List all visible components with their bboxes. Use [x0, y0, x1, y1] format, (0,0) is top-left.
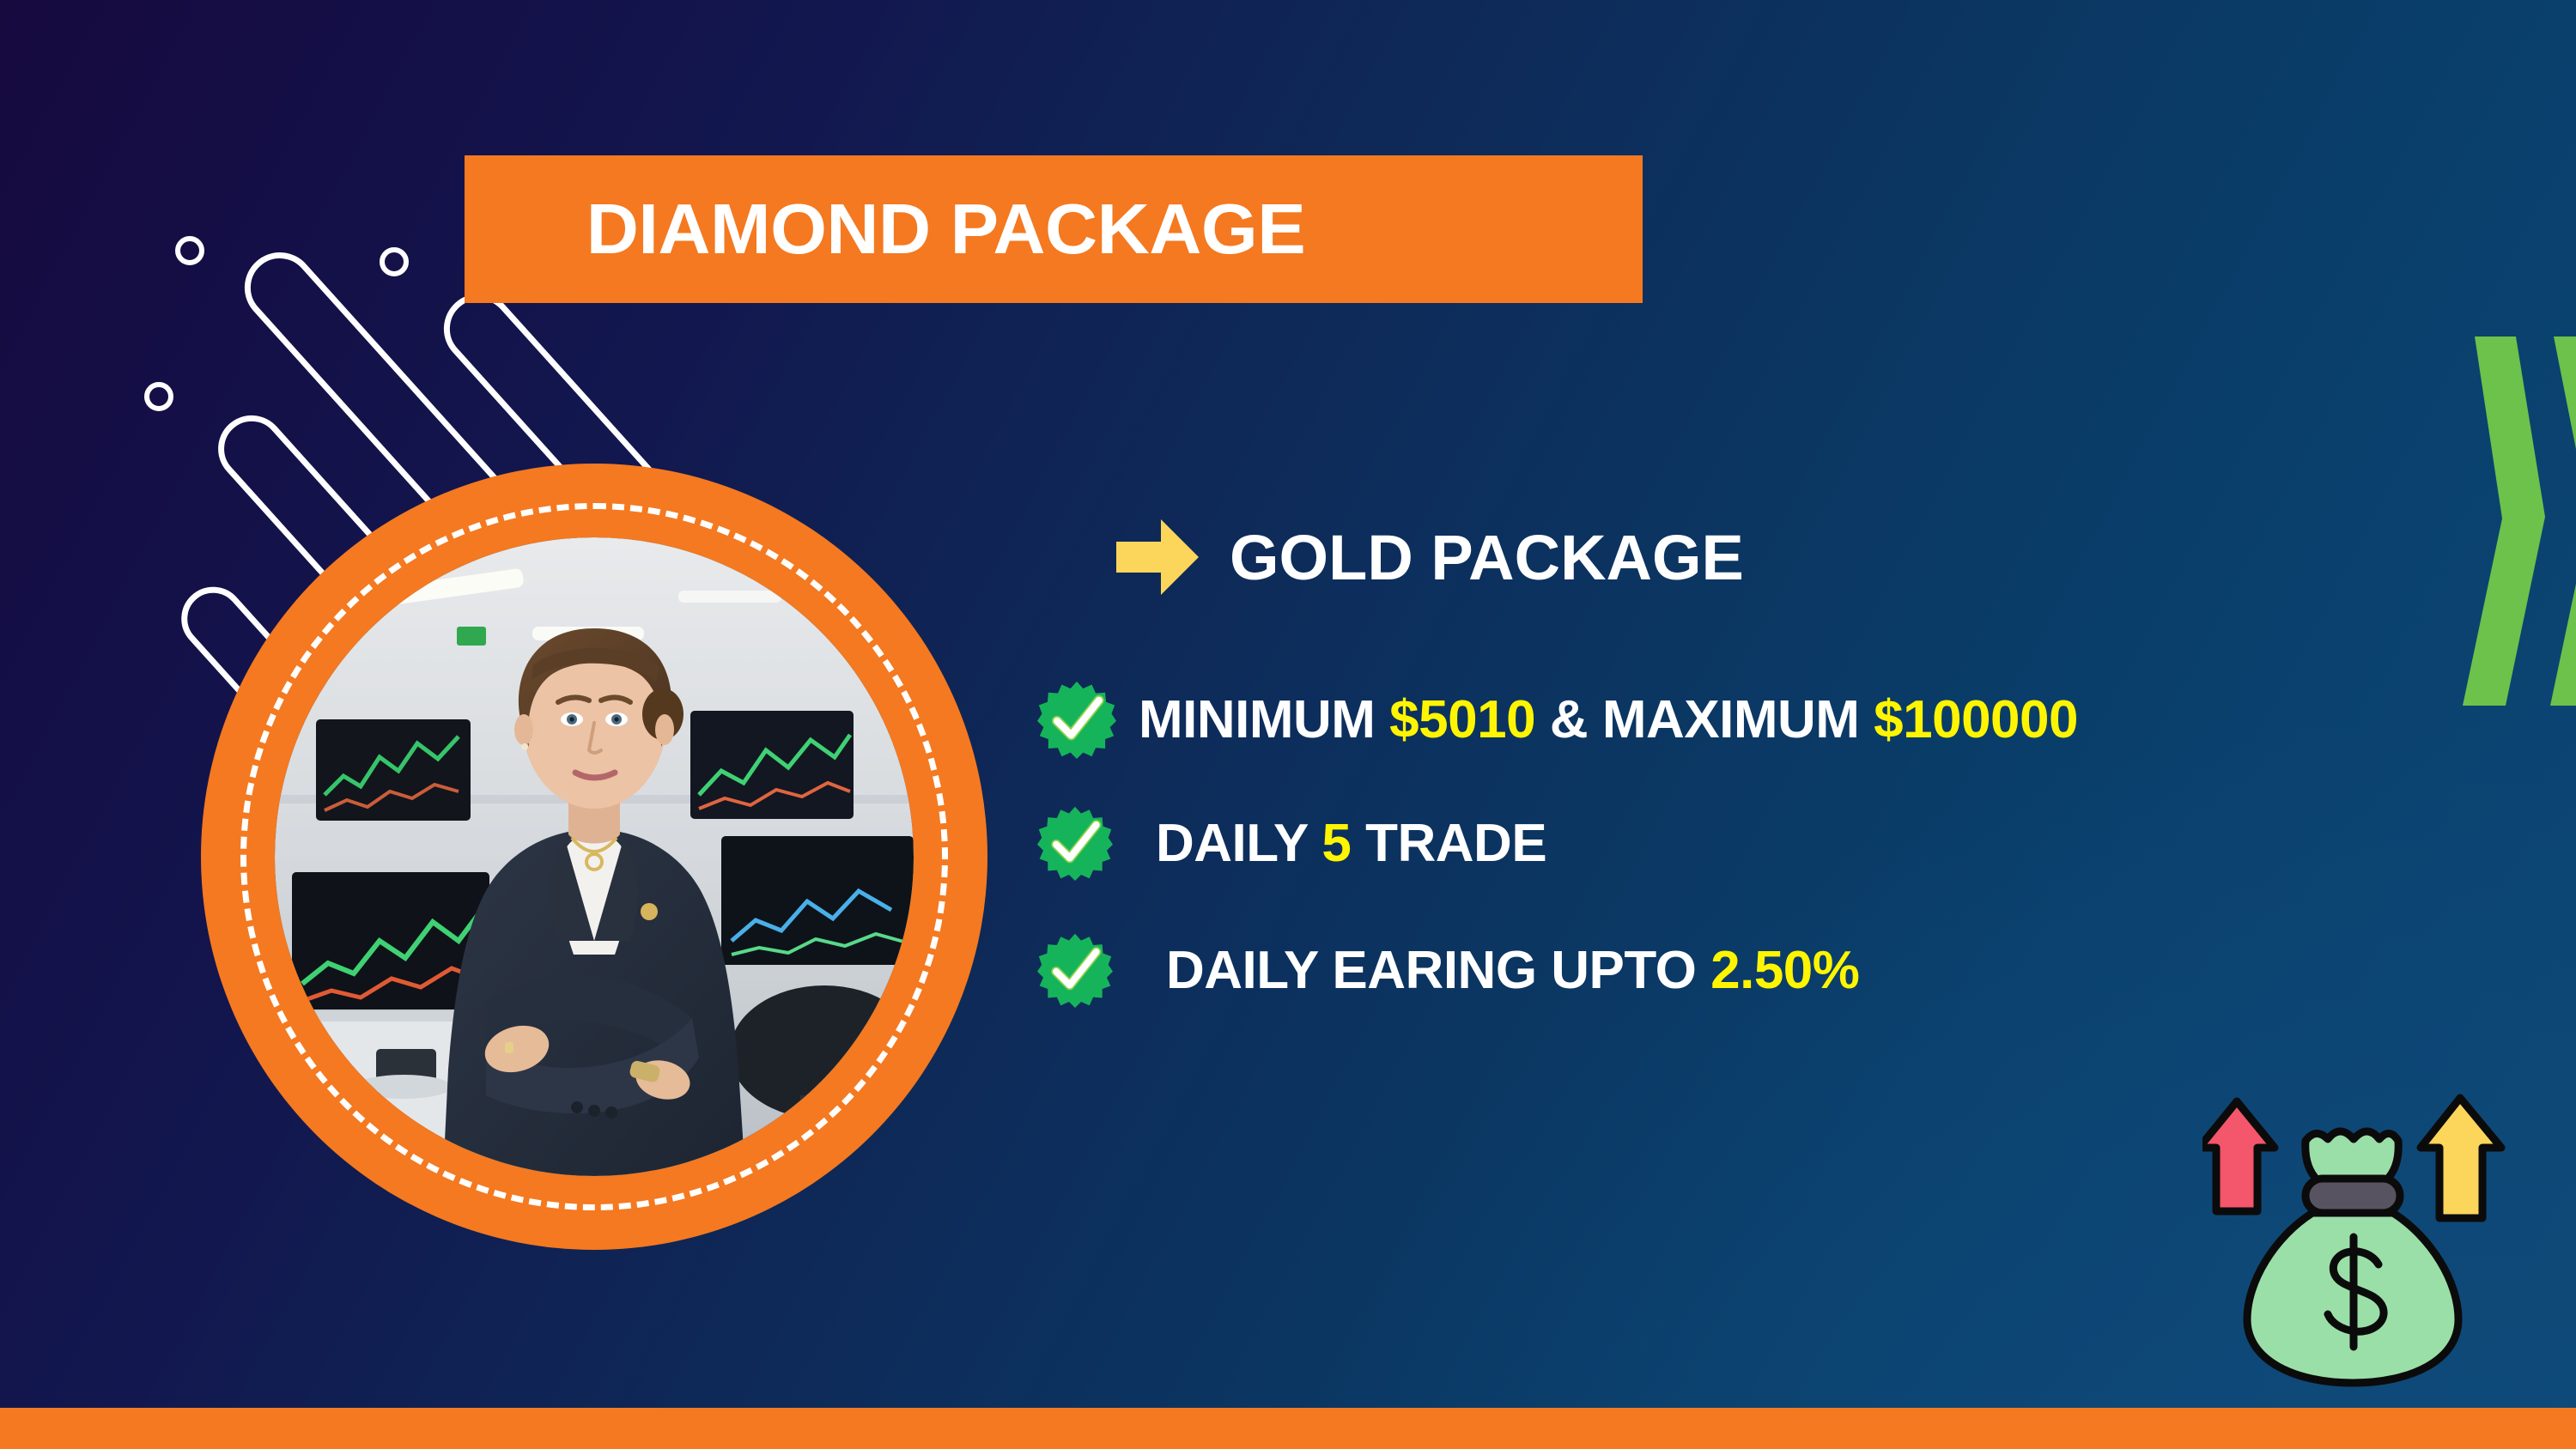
feature-text: DAILY EARING UPTO 2.50% — [1166, 940, 1859, 1001]
content-area: GOLD PACKAGE MINIMUM $5010 & MAXIMUM $10… — [0, 0, 2576, 1449]
arrow-up-yellow-icon — [2421, 1098, 2501, 1218]
money-bag-icon — [2202, 1077, 2537, 1412]
feature-row: DAILY 5 TRADE — [1037, 805, 1546, 881]
promo-banner: DIAMOND PACKAGE — [0, 0, 2576, 1449]
package-heading-row: GOLD PACKAGE — [1116, 519, 1744, 595]
feature-row: DAILY EARING UPTO 2.50% — [1037, 932, 1859, 1008]
green-check-badge-icon — [1037, 805, 1113, 881]
green-check-badge-icon — [1037, 680, 1116, 759]
package-name: GOLD PACKAGE — [1230, 521, 1744, 594]
arrow-right-icon — [1116, 519, 1199, 595]
feature-text: MINIMUM $5010 & MAXIMUM $100000 — [1139, 689, 2078, 750]
feature-text: DAILY 5 TRADE — [1156, 813, 1546, 874]
feature-row: MINIMUM $5010 & MAXIMUM $100000 — [1037, 680, 2078, 759]
bottom-accent-bar — [0, 1408, 2576, 1449]
green-check-badge-icon — [1037, 932, 1113, 1008]
arrow-up-red-icon — [2202, 1101, 2275, 1211]
